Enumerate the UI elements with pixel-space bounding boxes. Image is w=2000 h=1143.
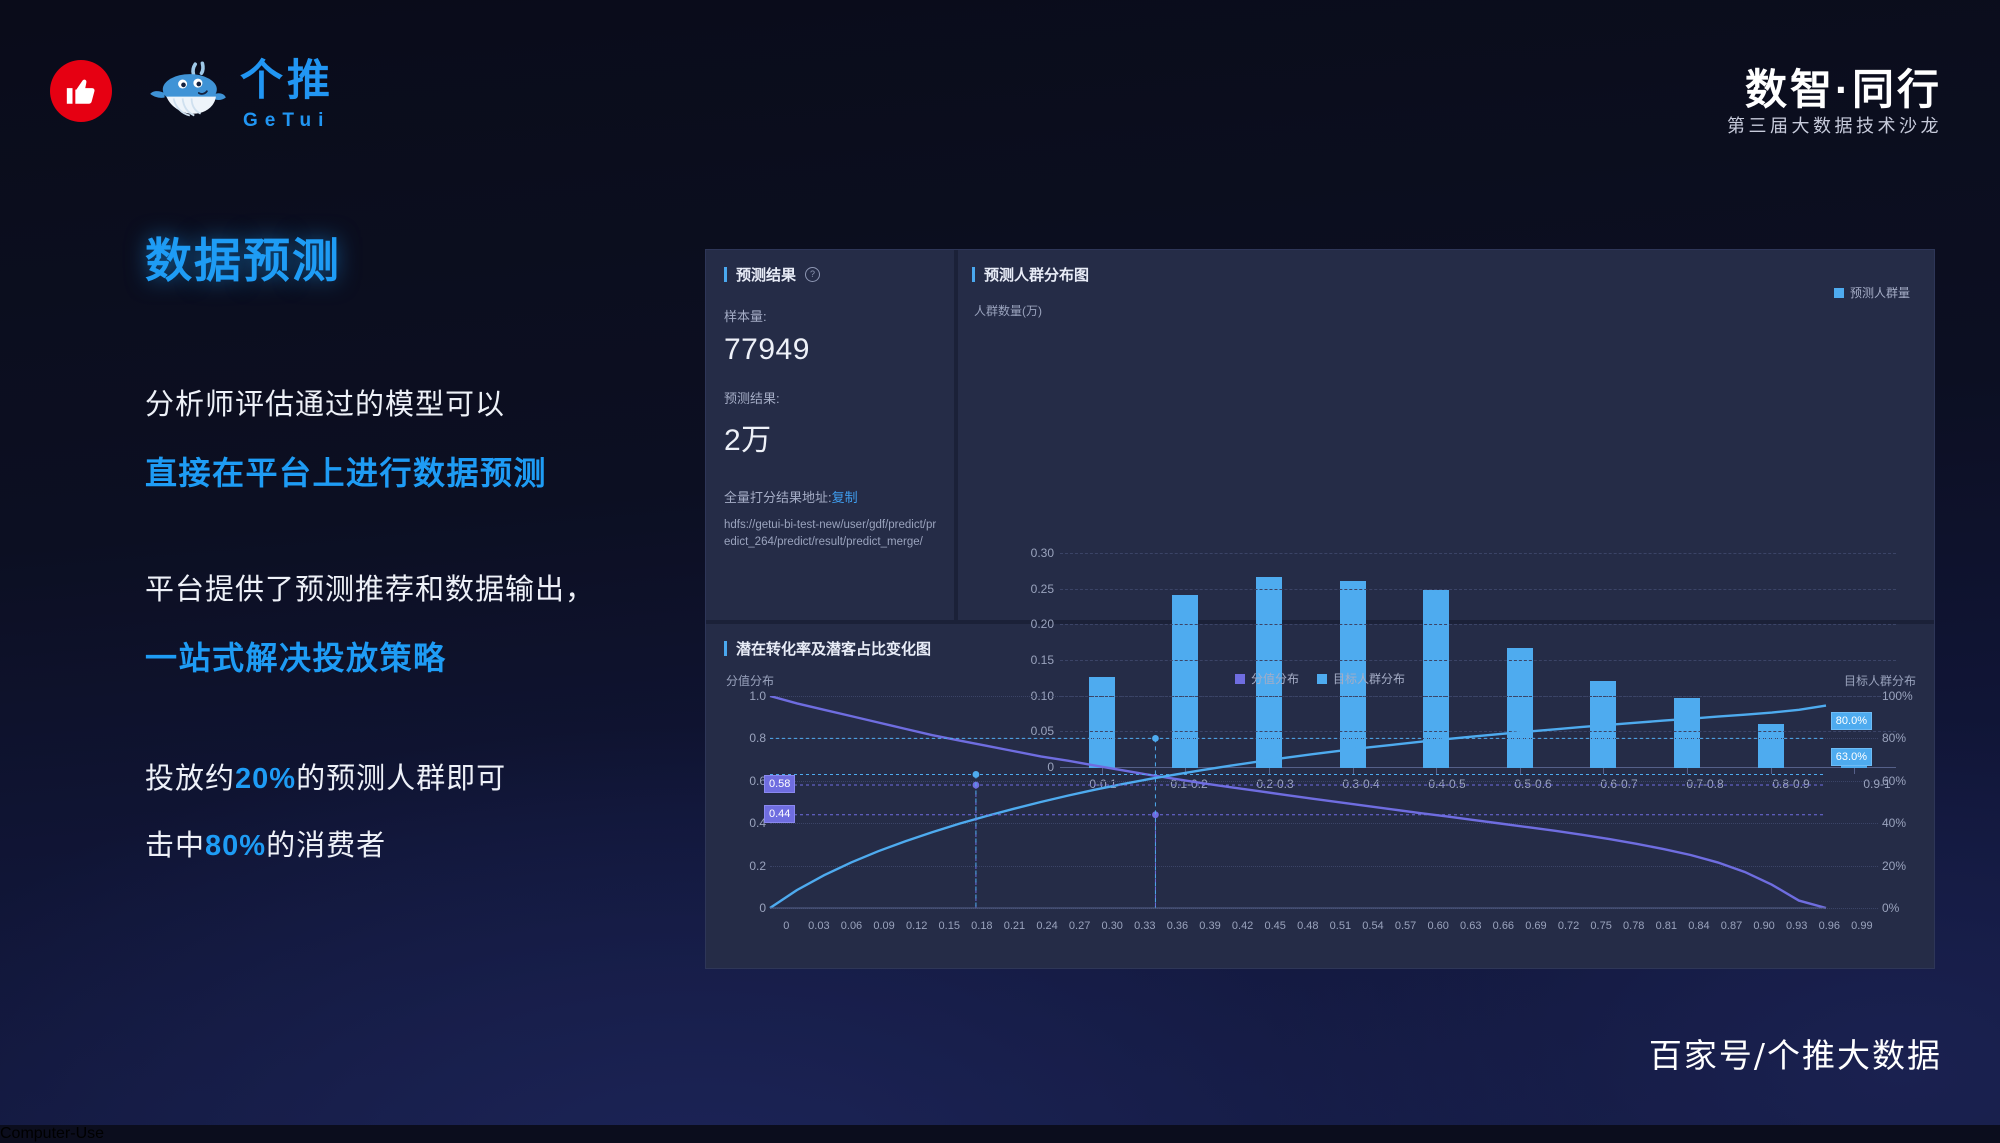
page-title: 数据预测 — [145, 222, 341, 291]
line-chart-xtick: 0.27 — [1063, 920, 1096, 932]
top-panel: 预测结果 ? 样本量: 77949 预测结果: 2万 全量打分结果地址:复制 h… — [706, 250, 1934, 624]
copy-line-4: 一站式解决投放策略 — [145, 633, 447, 679]
line-chart-ytick-right: 40% — [1882, 816, 1918, 830]
copy-line-6-c: 的消费者 — [266, 830, 386, 862]
line-chart-xtick: 0.54 — [1357, 920, 1390, 932]
copy-line-5-c: 的预测人群即可 — [296, 763, 506, 795]
event-title: 数智·同行 — [1745, 56, 1942, 117]
slide-root: 个推 GeTui 数智·同行 第三届大数据技术沙龙 数据预测 分析师评估通过的模… — [0, 0, 2000, 1125]
legend-label-score: 分值分布 — [1251, 670, 1299, 687]
predict-result-value: 2万 — [724, 415, 938, 459]
legend-swatch-icon — [1834, 288, 1844, 298]
thumbs-up-icon — [50, 60, 112, 122]
line-chart-xtick: 0.90 — [1748, 920, 1781, 932]
result-path-text: hdfs://getui-bi-test-new/user/gdf/predic… — [724, 517, 938, 552]
copy-line-2: 直接在平台上进行数据预测 — [145, 448, 547, 494]
line-chart-xtick: 0.69 — [1520, 920, 1553, 932]
copy-line-5-highlight: 20% — [235, 763, 296, 795]
bar-chart-ytick: 0.30 — [1016, 546, 1054, 560]
line-chart-xtick: 0.24 — [1031, 920, 1064, 932]
whale-logo-icon — [143, 57, 233, 129]
line-chart-xtick: 0.09 — [868, 920, 901, 932]
brand-name-cn: 个推 — [240, 60, 334, 103]
footer-credit: 百家号/个推大数据 — [1649, 1029, 1942, 1077]
dashboard-screenshot: 预测结果 ? 样本量: 77949 预测结果: 2万 全量打分结果地址:复制 h… — [706, 250, 1934, 968]
line-chart-xtick: 0.72 — [1552, 920, 1585, 932]
line-chart-xtick: 0.03 — [803, 920, 836, 932]
result-address-row: 全量打分结果地址:复制 — [724, 487, 938, 506]
line-chart-xlabels: 00.030.060.090.120.150.180.210.240.270.3… — [770, 920, 1878, 932]
bar-chart-title: 预测人群分布图 — [972, 264, 1920, 285]
copy-line-5: 投放约20%的预测人群即可 — [145, 755, 506, 797]
legend-label: 预测人群量 — [1850, 284, 1910, 301]
copy-line-6: 击中80%的消费者 — [145, 822, 386, 864]
sample-size-label: 样本量: — [724, 306, 938, 325]
bottom-panel: 潜在转化率及潜客占比变化图 分值分布 目标人群分布 分值分布 目标人群分布 00… — [706, 624, 1934, 968]
bar-chart-header: 预测人群分布图 人群数量(万) — [972, 264, 1920, 319]
line-series-target — [770, 706, 1826, 908]
legend-item-target: 目标人群分布 — [1317, 670, 1405, 687]
bar-chart-legend: 预测人群量 — [1834, 284, 1910, 301]
line-chart-xtick: 0.60 — [1422, 920, 1455, 932]
gridline — [1060, 589, 1896, 590]
line-chart-xtick: 0.15 — [933, 920, 966, 932]
data-point-marker[interactable] — [973, 771, 980, 778]
line-chart-xtick: 0.84 — [1683, 920, 1716, 932]
bar-chart-ylabel: 人群数量(万) — [974, 302, 1920, 319]
panel-divider — [954, 250, 958, 620]
line-chart-plot: 00%0.220%0.440%0.660%0.880%1.0100%0.580.… — [742, 696, 1918, 908]
legend-swatch-blue-icon — [1317, 674, 1327, 684]
gridline — [1060, 553, 1896, 554]
sample-size-value: 77949 — [724, 333, 938, 367]
line-series-score — [770, 696, 1826, 908]
line-chart-xtick: 0.96 — [1813, 920, 1846, 932]
line-chart-xtick: 0 — [770, 920, 803, 932]
line-chart-xtick: 0.18 — [966, 920, 999, 932]
line-chart-xtick: 0.48 — [1292, 920, 1325, 932]
chart-annotation-label: 80.0% — [1831, 712, 1872, 730]
line-chart-xtick: 0.33 — [1129, 920, 1162, 932]
copy-line-3: 平台提供了预测推荐和数据输出， — [145, 566, 595, 608]
line-chart-ytick-right: 20% — [1882, 859, 1918, 873]
chart-annotation-label: 63.0% — [1831, 748, 1872, 766]
line-chart-xtick: 0.42 — [1226, 920, 1259, 932]
data-point-marker[interactable] — [1152, 735, 1159, 742]
predict-result-label: 预测结果: — [724, 388, 938, 407]
line-chart-xtick: 0.51 — [1324, 920, 1357, 932]
line-chart-xtick: 0.75 — [1585, 920, 1618, 932]
legend-item-score: 分值分布 — [1235, 670, 1299, 687]
line-chart-series — [742, 696, 1866, 918]
chart-annotation-label: 0.44 — [764, 805, 795, 823]
line-chart-xtick: 0.21 — [998, 920, 1031, 932]
line-chart-xtick: 0.99 — [1846, 920, 1879, 932]
line-chart-legend: 分值分布 目标人群分布 — [706, 670, 1934, 687]
legend-swatch-purple-icon — [1235, 674, 1245, 684]
line-chart-title: 潜在转化率及潜客占比变化图 — [724, 638, 931, 659]
line-chart-xtick: 0.87 — [1715, 920, 1748, 932]
line-chart-xtick: 0.12 — [900, 920, 933, 932]
line-chart-ytick-right: 0% — [1882, 901, 1918, 915]
copy-line-6-highlight: 80% — [205, 830, 266, 862]
chart-annotation-label: 0.58 — [764, 775, 795, 793]
legend-label-target: 目标人群分布 — [1333, 670, 1405, 687]
line-chart-xtick: 0.45 — [1259, 920, 1292, 932]
line-chart-xtick: 0.78 — [1617, 920, 1650, 932]
bar-chart-ytick: 0.25 — [1016, 582, 1054, 596]
line-chart-ytick-right: 80% — [1882, 731, 1918, 745]
copy-line-5-a: 投放约 — [145, 763, 235, 795]
prediction-result-title-text: 预测结果 — [736, 264, 796, 285]
event-subtitle: 第三届大数据技术沙龙 — [1727, 112, 1942, 138]
line-chart-xtick: 0.06 — [835, 920, 868, 932]
prediction-result-title: 预测结果 ? — [724, 264, 938, 285]
line-chart-xtick: 0.66 — [1487, 920, 1520, 932]
line-chart-xtick: 0.63 — [1454, 920, 1487, 932]
line-chart-xtick: 0.30 — [1096, 920, 1129, 932]
line-chart-ytick-right: 100% — [1882, 689, 1918, 703]
line-chart-xtick: 0.39 — [1194, 920, 1227, 932]
line-chart-xtick: 0.36 — [1161, 920, 1194, 932]
line-chart-xtick: 0.57 — [1389, 920, 1422, 932]
copy-line-1: 分析师评估通过的模型可以 — [145, 381, 505, 423]
copy-line-6-a: 击中 — [145, 830, 205, 862]
copy-link[interactable]: 复制 — [832, 490, 858, 505]
line-chart-xtick: 0.93 — [1780, 920, 1813, 932]
result-address-label: 全量打分结果地址: — [724, 490, 832, 505]
line-chart-xtick: 0.81 — [1650, 920, 1683, 932]
prediction-result-card: 预测结果 ? 样本量: 77949 预测结果: 2万 全量打分结果地址:复制 h… — [724, 264, 938, 552]
help-icon[interactable]: ? — [805, 267, 820, 282]
brand-name-en: GeTui — [243, 110, 330, 132]
line-chart-ytick-right: 60% — [1882, 774, 1918, 788]
